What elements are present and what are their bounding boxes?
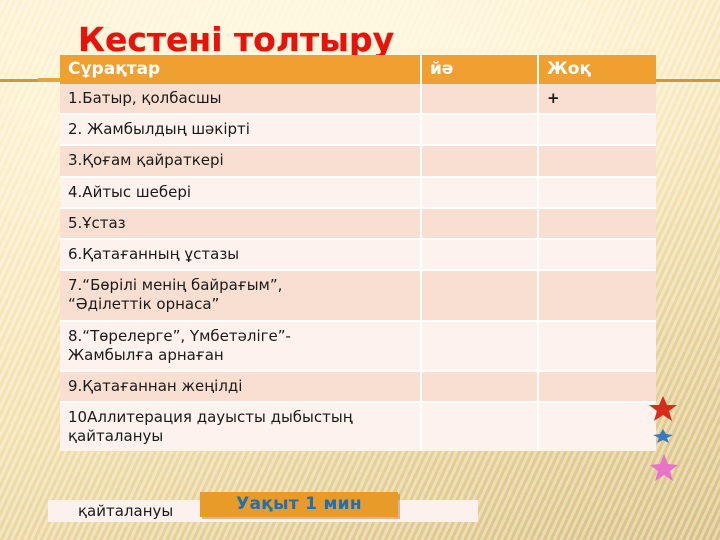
page-title: Кестені толтыру	[78, 20, 394, 59]
cell-yes[interactable]	[421, 239, 538, 270]
column-header-no: Жоқ	[538, 55, 656, 84]
cell-yes[interactable]	[421, 270, 538, 320]
cell-question: 8.“Төрелерге”, Үмбетәліге”-Жамбылға арна…	[60, 321, 421, 371]
table-row: 10Аллитерация дауысты дыбыстыңқайталануы	[60, 402, 656, 451]
column-header-questions: Сұрақтар	[60, 55, 421, 84]
cell-no[interactable]	[538, 177, 656, 208]
cell-question: 5.Ұстаз	[60, 208, 421, 239]
cell-no[interactable]: +	[538, 84, 656, 114]
cell-question: 2. Жамбылдың шәкірті	[60, 114, 421, 145]
cell-no[interactable]	[538, 321, 656, 371]
cell-no[interactable]	[538, 371, 656, 402]
cell-no[interactable]	[538, 402, 656, 451]
cell-yes[interactable]	[421, 84, 538, 114]
table-row: 4.Айтыс шебері	[60, 177, 656, 208]
cell-yes[interactable]	[421, 114, 538, 145]
cell-no[interactable]	[538, 208, 656, 239]
cell-no[interactable]	[538, 114, 656, 145]
column-header-yes: йә	[421, 55, 538, 84]
table-row: 5.Ұстаз	[60, 208, 656, 239]
cell-yes[interactable]	[421, 208, 538, 239]
table-row: 9.Қатағаннан жеңілді	[60, 371, 656, 402]
cell-question: 3.Қоғам қайраткері	[60, 145, 421, 176]
table-row: 2. Жамбылдың шәкірті	[60, 114, 656, 145]
cell-question: 9.Қатағаннан жеңілді	[60, 371, 421, 402]
table-row: 7.“Бөрілі менің байрағым”,“Әділеттік орн…	[60, 270, 656, 320]
table-row: 8.“Төрелерге”, Үмбетәліге”-Жамбылға арна…	[60, 321, 656, 371]
questions-table: Сұрақтар йә Жоқ 1.Батыр, қолбасшы+2. Жам…	[60, 55, 656, 451]
table-header-row: Сұрақтар йә Жоқ	[60, 55, 656, 84]
cell-yes[interactable]	[421, 145, 538, 176]
table-row: 1.Батыр, қолбасшы+	[60, 84, 656, 114]
cell-yes[interactable]	[421, 177, 538, 208]
cell-question: 4.Айтыс шебері	[60, 177, 421, 208]
cell-question: 7.“Бөрілі менің байрағым”,“Әділеттік орн…	[60, 270, 421, 320]
cell-no[interactable]	[538, 239, 656, 270]
cell-question: 10Аллитерация дауысты дыбыстыңқайталануы	[60, 402, 421, 451]
leftover-strip-text: қайталануы	[78, 502, 173, 520]
accent-tick-mark	[38, 78, 60, 82]
table-body: 1.Батыр, қолбасшы+2. Жамбылдың шәкірті3.…	[60, 84, 656, 451]
cell-question: 6.Қатағанның ұстазы	[60, 239, 421, 270]
cell-no[interactable]	[538, 145, 656, 176]
cell-question: 1.Батыр, қолбасшы	[60, 84, 421, 114]
cell-yes[interactable]	[421, 371, 538, 402]
table-row: 3.Қоғам қайраткері	[60, 145, 656, 176]
cell-no[interactable]	[538, 270, 656, 320]
table-header: Сұрақтар йә Жоқ	[60, 55, 656, 84]
slide-canvas: Кестені толтыру Сұрақтар йә Жоқ 1.Батыр,…	[0, 0, 720, 540]
cell-yes[interactable]	[421, 402, 538, 451]
cell-yes[interactable]	[421, 321, 538, 371]
time-limit-button[interactable]: Уақыт 1 мин	[200, 492, 398, 517]
table-row: 6.Қатағанның ұстазы	[60, 239, 656, 270]
